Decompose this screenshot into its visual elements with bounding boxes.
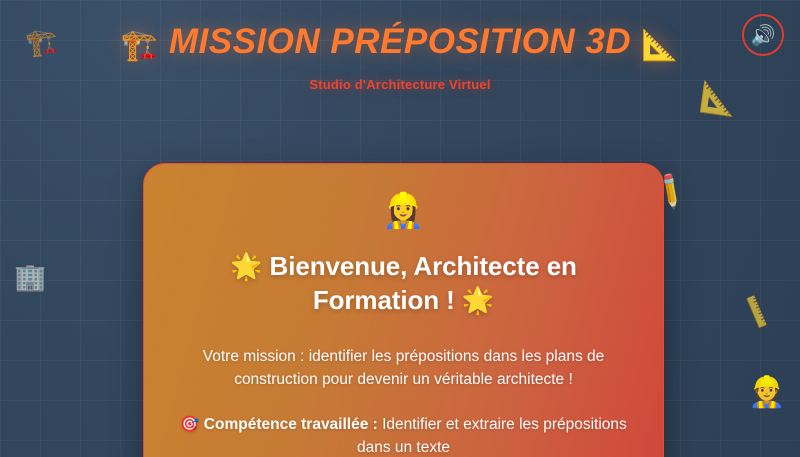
page-title: 🏗️ MISSION PRÉPOSITION 3D 📐 bbox=[0, 22, 800, 63]
welcome-heading-text: Bienvenue, Architecte en Formation ! bbox=[270, 251, 577, 315]
welcome-card: 👷‍♀️ 🌟 Bienvenue, Architecte en Formatio… bbox=[143, 163, 664, 457]
skill-line: 🎯 Compétence travaillée : Identifier et … bbox=[178, 413, 629, 457]
welcome-heading: 🌟 Bienvenue, Architecte en Formation ! 🌟 bbox=[178, 250, 629, 319]
star-left-icon: 🌟 bbox=[230, 252, 262, 282]
skill-label: Compétence travaillée : bbox=[204, 416, 378, 433]
straight-ruler-icon: 📏 bbox=[736, 295, 776, 331]
target-icon: 🎯 bbox=[180, 415, 199, 433]
crane-title-icon: 🏗️ bbox=[121, 28, 159, 63]
office-building-icon: 🏢 bbox=[14, 265, 46, 291]
page-title-text: MISSION PRÉPOSITION 3D bbox=[169, 22, 631, 61]
ruler-title-icon: 📐 bbox=[641, 28, 679, 63]
page-subtitle: Studio d'Architecture Virtuel bbox=[0, 77, 800, 92]
skill-value: Identifier et extraire les prépositions … bbox=[357, 416, 627, 456]
construction-worker-icon: 👷 bbox=[748, 378, 785, 408]
mission-description: Votre mission : identifier les prépositi… bbox=[178, 345, 629, 392]
app-header: 🏗️ MISSION PRÉPOSITION 3D 📐 Studio d'Arc… bbox=[0, 0, 800, 92]
architect-avatar-icon: 👷‍♀️ bbox=[178, 194, 629, 228]
sound-toggle-button[interactable]: 🔊 bbox=[742, 14, 784, 56]
speaker-icon: 🔊 bbox=[751, 25, 776, 45]
star-right-icon: 🌟 bbox=[462, 286, 494, 316]
